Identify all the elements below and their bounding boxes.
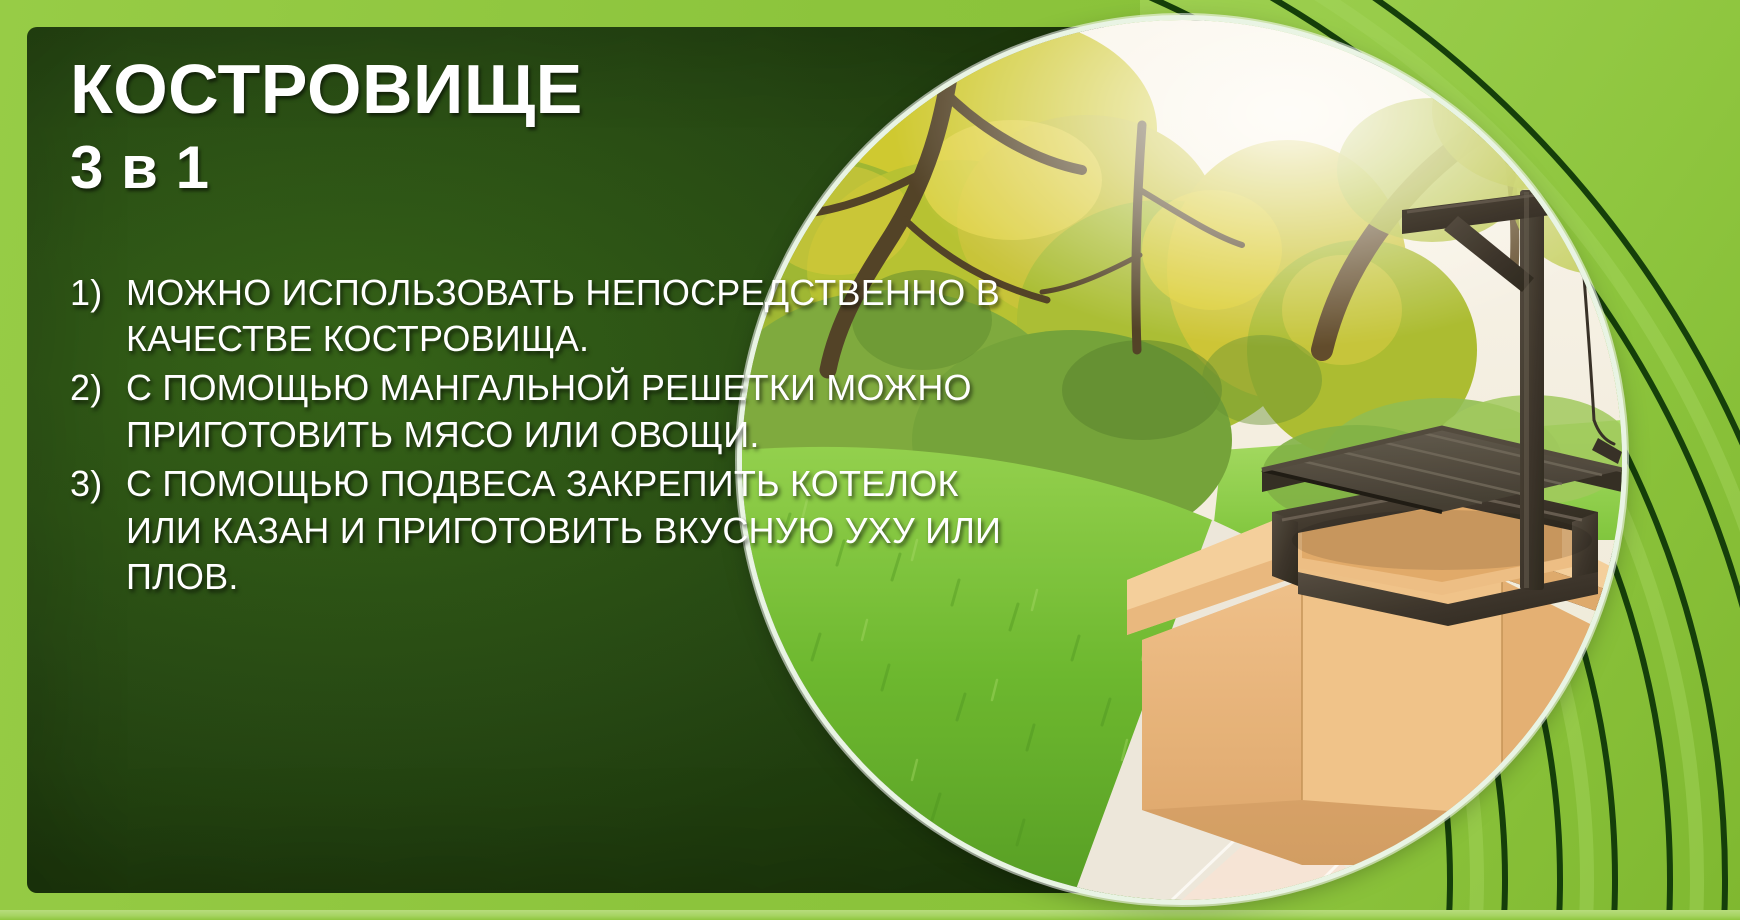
frame-bottom-hairline (0, 910, 1740, 920)
list-item-text: С ПОМОЩЬЮ МАНГАЛЬНОЙ РЕШЕТКИ МОЖНО ПРИГО… (126, 365, 1010, 459)
list-item-number: 2) (70, 365, 126, 459)
list-item-number: 1) (70, 270, 126, 364)
list-item: 3) С ПОМОЩЬЮ ПОДВЕСА ЗАКРЕПИТЬ КОТЕЛОК И… (70, 461, 1010, 601)
list-item: 1) МОЖНО ИСПОЛЬЗОВАТЬ НЕПОСРЕДСТВЕННО В … (70, 270, 1010, 364)
list-item-text: МОЖНО ИСПОЛЬЗОВАТЬ НЕПОСРЕДСТВЕННО В КАЧ… (126, 270, 1010, 364)
list-item-text: С ПОМОЩЬЮ ПОДВЕСА ЗАКРЕПИТЬ КОТЕЛОК ИЛИ … (126, 461, 1010, 601)
list-item: 2) С ПОМОЩЬЮ МАНГАЛЬНОЙ РЕШЕТКИ МОЖНО ПР… (70, 365, 1010, 459)
page-subtitle: 3 в 1 (70, 138, 1010, 198)
poster-root: КОСТРОВИЩЕ 3 в 1 1) МОЖНО ИСПОЛЬЗОВАТЬ Н… (0, 0, 1740, 920)
list-item-number: 3) (70, 461, 126, 601)
text-column: КОСТРОВИЩЕ 3 в 1 1) МОЖНО ИСПОЛЬЗОВАТЬ Н… (70, 55, 1010, 603)
feature-list: 1) МОЖНО ИСПОЛЬЗОВАТЬ НЕПОСРЕДСТВЕННО В … (70, 270, 1010, 602)
page-title: КОСТРОВИЩЕ (70, 55, 1010, 124)
